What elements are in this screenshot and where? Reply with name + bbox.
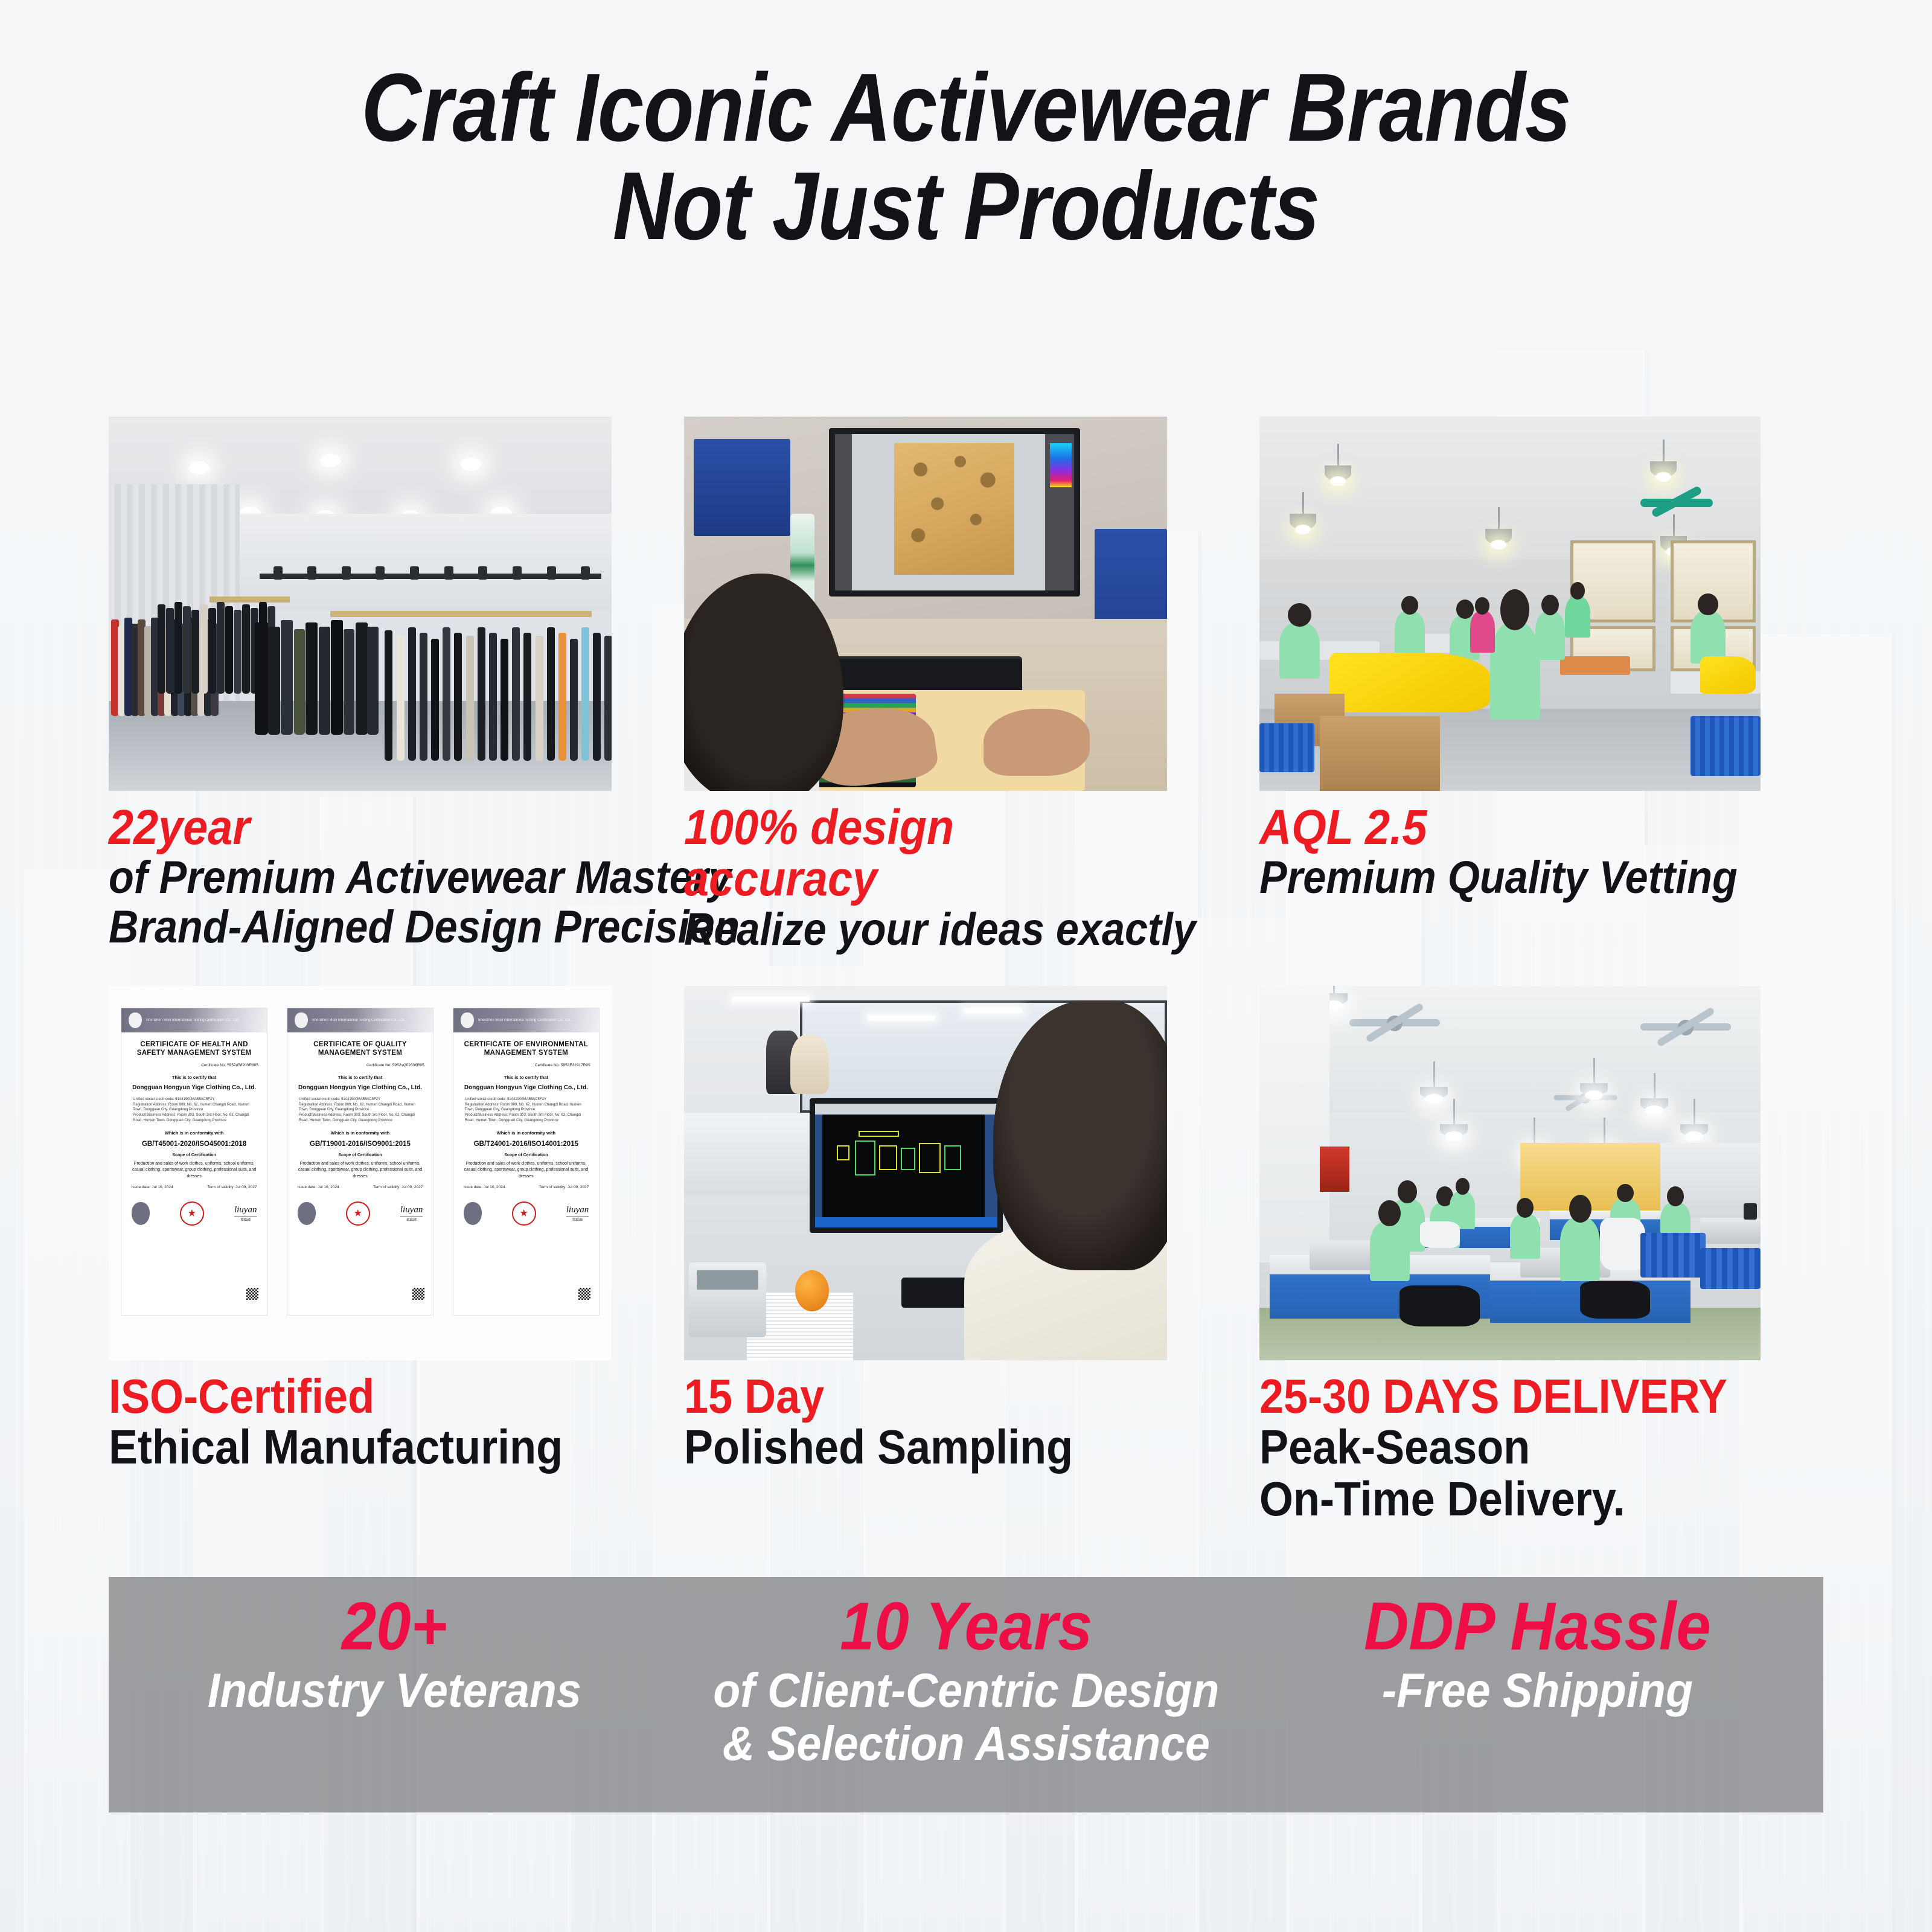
- certify-line: This is to certify that: [130, 1075, 258, 1080]
- subtext-iso: Ethical Manufacturing: [109, 1421, 616, 1473]
- signature-label: Issue: [566, 1217, 589, 1222]
- stat-industry-veterans: 20+ Industry Veterans: [109, 1577, 680, 1717]
- feature-card-quality: AQL 2.5 Premium Quality Vetting: [1259, 417, 1823, 955]
- headline-line-1: Craft Iconic Activewear Brands: [361, 53, 1570, 161]
- page-title: Craft Iconic Activewear Brands Not Just …: [135, 58, 1797, 255]
- qr-code-icon: [246, 1288, 258, 1300]
- scope-text: Production and sales of work clothes, un…: [298, 1161, 423, 1179]
- signature-label: Issue: [234, 1217, 257, 1222]
- business-address: Product/Business Address: Room 303, Sout…: [133, 1113, 255, 1123]
- photo-iso-certificates: Shenzhen Mcel International Testing Cert…: [109, 986, 612, 1360]
- caption-design-accuracy: 100% design accuracy Realize your ideas …: [684, 791, 1247, 955]
- certificate-company: Dongguan Hongyun Yige Clothing Co., Ltd.: [130, 1084, 258, 1091]
- subtext-experience-2: Brand-Aligned Design Precision: [109, 903, 616, 952]
- highlight-quality: AQL 2.5: [1259, 802, 1767, 853]
- certificate-issuer: Shenzhen Mcel International Testing Cert…: [146, 1019, 239, 1023]
- feature-card-design-accuracy: 100% design accuracy Realize your ideas …: [684, 417, 1247, 955]
- issue-date: Issue date: Jul 10, 2024: [464, 1185, 505, 1189]
- certificate-standard: GB/T19001-2016/ISO9001:2015: [296, 1140, 424, 1148]
- headline-line-2: Not Just Products: [135, 156, 1797, 255]
- stat-number: DDP Hassle: [1275, 1593, 1800, 1660]
- red-stamp-icon: [180, 1201, 204, 1226]
- scope-header: Scope of Certification: [130, 1153, 258, 1157]
- feature-row-1: 22year of Premium Activewear Mastery Bra…: [109, 417, 1823, 955]
- caption-quality: AQL 2.5 Premium Quality Vetting: [1259, 791, 1823, 903]
- registration-address: Registration Address: Room 909, No. 62, …: [133, 1102, 255, 1113]
- certificate-issuer: Shenzhen Mcel International Testing Cert…: [312, 1019, 405, 1023]
- certificate-standard: GB/T45001-2020/ISO45001:2018: [130, 1140, 258, 1148]
- subtext-delivery-1: Peak-Season: [1259, 1421, 1767, 1473]
- photo-pattern-cad: [684, 986, 1167, 1360]
- feature-card-sampling: 15 Day Polished Sampling: [684, 986, 1247, 1526]
- certificate-title: CERTIFICATE OF QUALITY MANAGEMENT SYSTEM: [296, 1040, 424, 1058]
- highlight-experience: 22year: [109, 802, 616, 853]
- red-stamp-icon: [346, 1201, 370, 1226]
- crest-seal-icon: [464, 1202, 482, 1225]
- credit-code: Unified social credit code: 91441900MA55…: [465, 1097, 587, 1102]
- scope-header: Scope of Certification: [296, 1153, 424, 1157]
- feature-card-delivery: 25-30 DAYS DELIVERY Peak-Season On-Time …: [1259, 986, 1823, 1526]
- infographic-page: Craft Iconic Activewear Brands Not Just …: [0, 0, 1932, 1932]
- feature-row-2: Shenzhen Mcel International Testing Cert…: [109, 986, 1823, 1526]
- highlight-design-accuracy: 100% design accuracy: [684, 802, 1191, 905]
- certify-line: This is to certify that: [296, 1075, 424, 1080]
- red-stamp-icon: [512, 1201, 536, 1226]
- signature: liuyan: [566, 1205, 589, 1215]
- signature-label: Issue: [400, 1217, 423, 1222]
- subtext-experience-1: of Premium Activewear Mastery: [109, 853, 616, 903]
- subtext-delivery-2: On-Time Delivery.: [1259, 1473, 1767, 1525]
- stats-banner: 20+ Industry Veterans 10 Years of Client…: [109, 1577, 1823, 1812]
- scope-header: Scope of Certification: [462, 1153, 590, 1157]
- certify-line: This is to certify that: [462, 1075, 590, 1080]
- caption-iso: ISO-Certified Ethical Manufacturing: [109, 1360, 672, 1474]
- highlight-iso: ISO-Certified: [109, 1371, 616, 1421]
- subtext-design-accuracy: Realize your ideas exactly: [684, 905, 1191, 955]
- stat-client-centric-design: 10 Years of Client-Centric Design & Sele…: [680, 1577, 1252, 1770]
- issue-date: Issue date: Jul 10, 2024: [298, 1185, 339, 1189]
- credit-code: Unified social credit code: 91441900MA55…: [299, 1097, 421, 1102]
- validity-term: Term of validity: Jul 09, 2027: [373, 1185, 423, 1189]
- caption-sampling: 15 Day Polished Sampling: [684, 1360, 1247, 1474]
- certificate-company: Dongguan Hongyun Yige Clothing Co., Ltd.: [296, 1084, 424, 1091]
- subtext-sampling: Polished Sampling: [684, 1421, 1191, 1473]
- stat-ddp-shipping: DDP Hassle -Free Shipping: [1252, 1577, 1823, 1717]
- stat-text: of Client-Centric Design & Selection Ass…: [703, 1664, 1229, 1770]
- stat-number: 10 Years: [703, 1593, 1229, 1660]
- stat-text: Industry Veterans: [132, 1664, 657, 1717]
- scope-text: Production and sales of work clothes, un…: [132, 1161, 257, 1179]
- business-address: Product/Business Address: Room 303, Sout…: [465, 1113, 587, 1123]
- validity-term: Term of validity: Jul 09, 2027: [207, 1185, 257, 1189]
- certificate: Shenzhen Mcel International Testing Cert…: [287, 1008, 433, 1315]
- registration-address: Registration Address: Room 909, No. 62, …: [299, 1102, 421, 1113]
- certificate: Shenzhen Mcel International Testing Cert…: [121, 1008, 267, 1315]
- certificate-company: Dongguan Hongyun Yige Clothing Co., Ltd.: [462, 1084, 590, 1091]
- certificate-title: CERTIFICATE OF HEALTH AND SAFETY MANAGEM…: [130, 1040, 258, 1058]
- conformity-line: Which is in conformity with: [130, 1130, 258, 1136]
- conformity-line: Which is in conformity with: [296, 1130, 424, 1136]
- stat-text: -Free Shipping: [1275, 1664, 1800, 1717]
- feature-card-iso: Shenzhen Mcel International Testing Cert…: [109, 986, 672, 1526]
- caption-experience: 22year of Premium Activewear Mastery Bra…: [109, 791, 672, 952]
- validity-term: Term of validity: Jul 09, 2027: [539, 1185, 589, 1189]
- certificate-number: Certificate No. 5952E32917R05: [462, 1063, 590, 1067]
- business-address: Product/Business Address: Room 303, Sout…: [299, 1113, 421, 1123]
- crest-seal-icon: [298, 1202, 316, 1225]
- scope-text: Production and sales of work clothes, un…: [464, 1161, 589, 1179]
- stat-number: 20+: [132, 1593, 657, 1660]
- qr-code-icon: [412, 1288, 424, 1300]
- crest-seal-icon: [132, 1202, 150, 1225]
- certificate-title: CERTIFICATE OF ENVIRONMENTAL MANAGEMENT …: [462, 1040, 590, 1058]
- credit-code: Unified social credit code: 91441900MA55…: [133, 1097, 255, 1102]
- conformity-line: Which is in conformity with: [462, 1130, 590, 1136]
- photo-sewing-floor: [1259, 986, 1761, 1360]
- highlight-delivery: 25-30 DAYS DELIVERY: [1259, 1371, 1767, 1421]
- photo-clothing-showroom: [109, 417, 612, 791]
- qr-code-icon: [578, 1288, 590, 1300]
- photo-quality-inspection: [1259, 417, 1761, 791]
- certificate-issuer: Shenzhen Mcel International Testing Cert…: [478, 1019, 571, 1023]
- certificate-number: Certificate No. 5952458203R805: [130, 1063, 258, 1067]
- certificate: Shenzhen Mcel International Testing Cert…: [453, 1008, 600, 1315]
- signature: liuyan: [400, 1205, 423, 1215]
- certificate-standard: GB/T24001-2016/ISO14001:2015: [462, 1140, 590, 1148]
- highlight-sampling: 15 Day: [684, 1371, 1191, 1421]
- signature: liuyan: [234, 1205, 257, 1215]
- feature-grid: 22year of Premium Activewear Mastery Bra…: [109, 417, 1823, 1526]
- registration-address: Registration Address: Room 909, No. 62, …: [465, 1102, 587, 1113]
- certificate-number: Certificate No. 5952sQ02036R05: [296, 1063, 424, 1067]
- caption-delivery: 25-30 DAYS DELIVERY Peak-Season On-Time …: [1259, 1360, 1823, 1526]
- feature-card-experience: 22year of Premium Activewear Mastery Bra…: [109, 417, 672, 955]
- subtext-quality: Premium Quality Vetting: [1259, 853, 1767, 903]
- issue-date: Issue date: Jul 10, 2024: [132, 1185, 173, 1189]
- photo-designer-workstation: [684, 417, 1167, 791]
